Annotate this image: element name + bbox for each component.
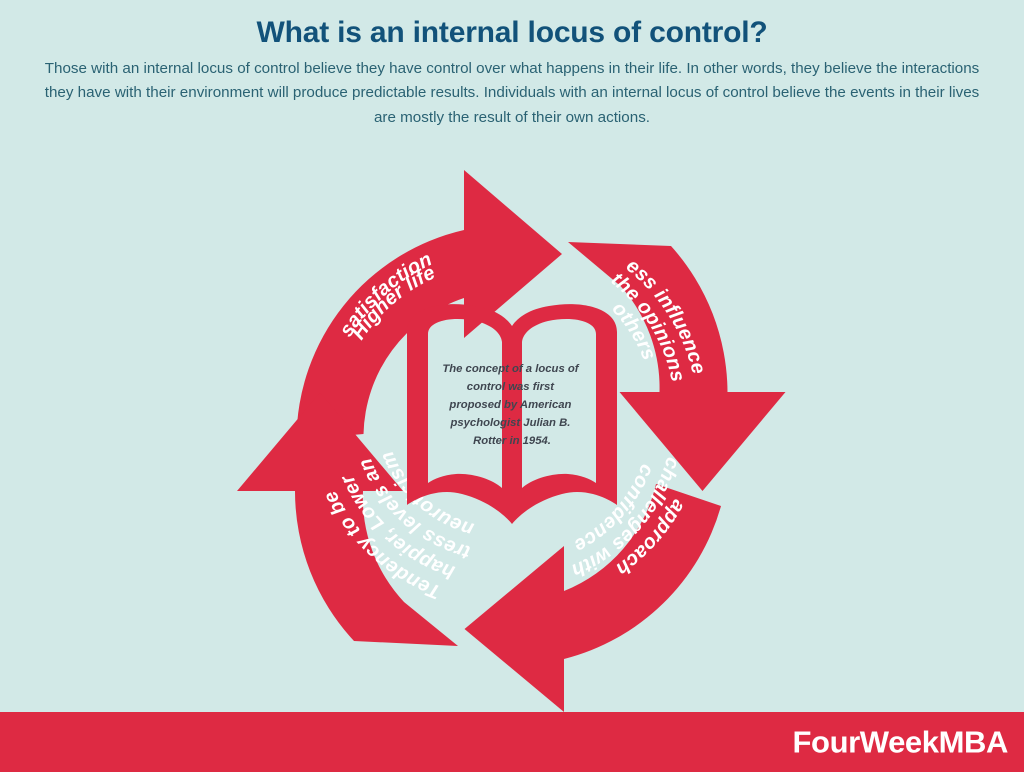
book-text-line4: psychologist Julian B.: [449, 417, 570, 429]
book-text-line1: The concept of a locus of: [442, 363, 579, 375]
footer-bar: FourWeekMBA: [0, 712, 1024, 772]
open-book-icon: The concept of a locus of control was fi…: [407, 304, 617, 524]
cycle-diagram: Higher life satisfaction Less influenced…: [0, 150, 1024, 690]
page-title: What is an internal locus of control?: [0, 0, 1024, 51]
page-subtitle: Those with an internal locus of control …: [37, 57, 987, 131]
header: What is an internal locus of control? Th…: [0, 0, 1024, 130]
book-text-line3: proposed by American: [448, 399, 571, 411]
book-outer-outline: [407, 304, 617, 524]
infographic-canvas: What is an internal locus of control? Th…: [0, 0, 1024, 772]
book-text-line5: Rotter in 1954.: [473, 435, 551, 447]
book-text-line2: control was first: [467, 381, 555, 393]
fourweekmba-logo: FourWeekMBA: [793, 727, 1009, 758]
cycle-svg: Higher life satisfaction Less influenced…: [232, 150, 792, 680]
